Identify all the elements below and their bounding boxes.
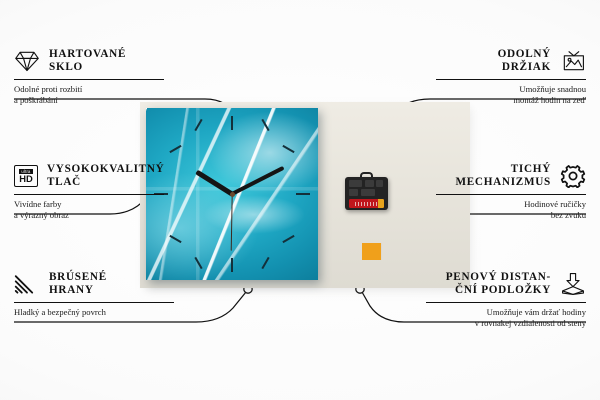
feature-title: ODOLNÝ DRŽIAK [498, 48, 551, 75]
feature-description: Odolné proti rozbití a poškrábání [14, 84, 164, 106]
divider [14, 79, 164, 80]
clock-center-hub [230, 192, 235, 197]
feature-durable-holder: ODOLNÝ DRŽIAK Umožňuje snadnou montáž ho… [436, 48, 586, 106]
feature-description: Hodinové ručičky bez zvuku [436, 199, 586, 221]
feature-title: BRÚSENÉ HRANY [49, 271, 107, 298]
mechanism-body [345, 177, 388, 210]
feature-beveled-edges: BRÚSENÉ HRANY Hladký a bezpečný povrch [14, 271, 174, 318]
feature-title: VYSOKOKVALITNÝ TLAČ [47, 163, 164, 190]
feature-title: HARTOVANÉ SKLO [49, 48, 126, 75]
divider [426, 302, 586, 303]
mechanism-battery [349, 199, 384, 208]
feature-description: Vivídne farby a výrazný obraz [14, 199, 164, 221]
feature-description: Umožňuje snadnou montáž hodin na zeď [436, 84, 586, 106]
infographic-canvas: HARTOVANÉ SKLO Odolné proti rozbití a po… [0, 0, 600, 400]
clock-tick [231, 116, 233, 130]
divider [436, 79, 586, 80]
feature-title: TICHÝ MECHANIZMUS [455, 163, 551, 190]
wall-clock-product [146, 108, 318, 280]
feature-high-quality-print: ultraHD VYSOKOKVALITNÝ TLAČ Vivídne farb… [14, 163, 164, 221]
feature-hardened-glass: HARTOVANÉ SKLO Odolné proti rozbití a po… [14, 48, 164, 106]
feature-description: Hladký a bezpečný povrch [14, 307, 174, 318]
clock-tick [231, 258, 233, 272]
clock-mechanism [345, 172, 388, 210]
clock-tick [296, 193, 310, 195]
ultra-hd-icon: ultraHD [14, 165, 38, 187]
divider [436, 194, 586, 195]
feature-description: Umožňuje vám držať hodiny v rovnakej vzd… [426, 307, 586, 329]
wall-mount-icon [560, 49, 586, 73]
divider [14, 302, 174, 303]
foam-spacer-pad [362, 243, 381, 260]
diamond-icon [14, 49, 40, 73]
spacer-pad-icon [560, 272, 586, 296]
feature-silent-mechanism: TICHÝ MECHANIZMUS Hodinové ručičky bez z… [436, 163, 586, 221]
feature-title: PENOVÝ DISTAN- ČNÍ PODLOŽKY [446, 271, 551, 298]
gear-icon [560, 164, 586, 188]
feature-foam-spacers: PENOVÝ DISTAN- ČNÍ PODLOŽKY Umožňuje vám… [426, 271, 586, 329]
beveled-edges-icon [14, 272, 40, 296]
divider [14, 194, 164, 195]
